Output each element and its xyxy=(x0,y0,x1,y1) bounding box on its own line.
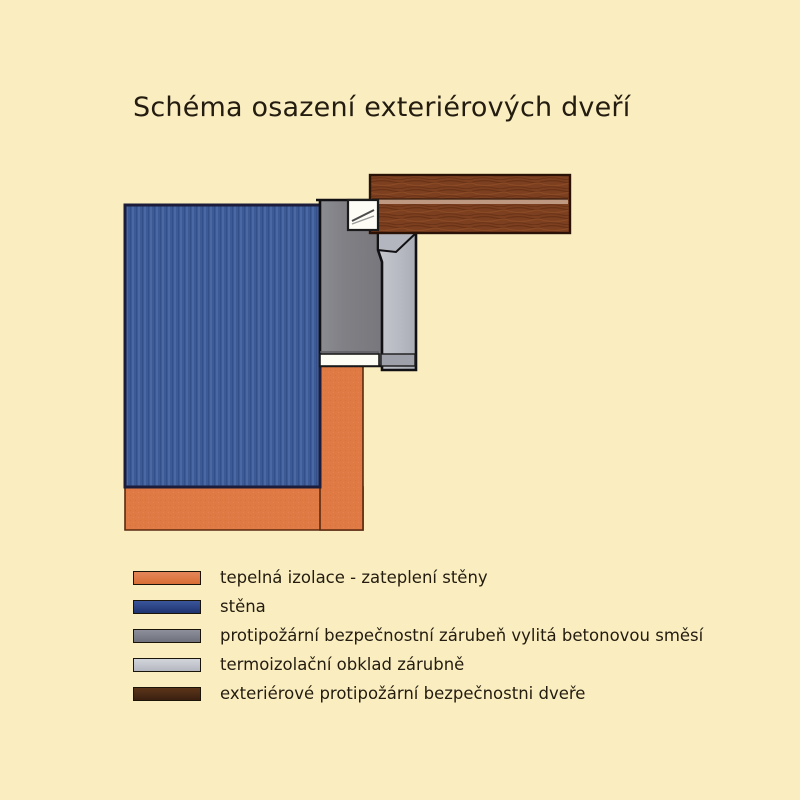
color-swatch-icon xyxy=(133,687,201,701)
legend-item-insulation: tepelná izolace - zateplení stěny xyxy=(133,566,753,595)
insulation-right-reveal-lower xyxy=(320,366,363,530)
threshold-gap-filler xyxy=(381,354,415,366)
color-swatch-icon xyxy=(133,600,201,614)
legend-item-label: protipožární bezpečnostní zárubeň vylitá… xyxy=(220,624,703,648)
legend-item-label: exteriérové protipožární bezpečnostni dv… xyxy=(220,682,585,706)
legend: tepelná izolace - zateplení stěny stěna … xyxy=(133,566,753,711)
cross-section-drawing xyxy=(0,0,800,560)
legend-item-wall: stěna xyxy=(133,595,753,624)
door-panel-seam xyxy=(372,199,568,204)
color-swatch-icon xyxy=(133,658,201,672)
diagram-canvas: Schéma osazení exteriérových dveří xyxy=(0,0,800,800)
legend-item-label: stěna xyxy=(220,595,266,619)
legend-item-door: exteriérové protipožární bezpečnostni dv… xyxy=(133,682,753,711)
thermal-cladding-panel xyxy=(378,233,416,370)
color-swatch-icon xyxy=(133,571,201,585)
legend-item-fire-frame: protipožární bezpečnostní zárubeň vylitá… xyxy=(133,624,753,653)
legend-item-cladding: termoizolační obklad zárubně xyxy=(133,653,753,682)
legend-item-label: tepelná izolace - zateplení stěny xyxy=(220,566,488,590)
threshold-gap-strip xyxy=(320,354,379,366)
color-swatch-icon xyxy=(133,629,201,643)
wall-block xyxy=(125,205,320,487)
legend-item-label: termoizolační obklad zárubně xyxy=(220,653,464,677)
